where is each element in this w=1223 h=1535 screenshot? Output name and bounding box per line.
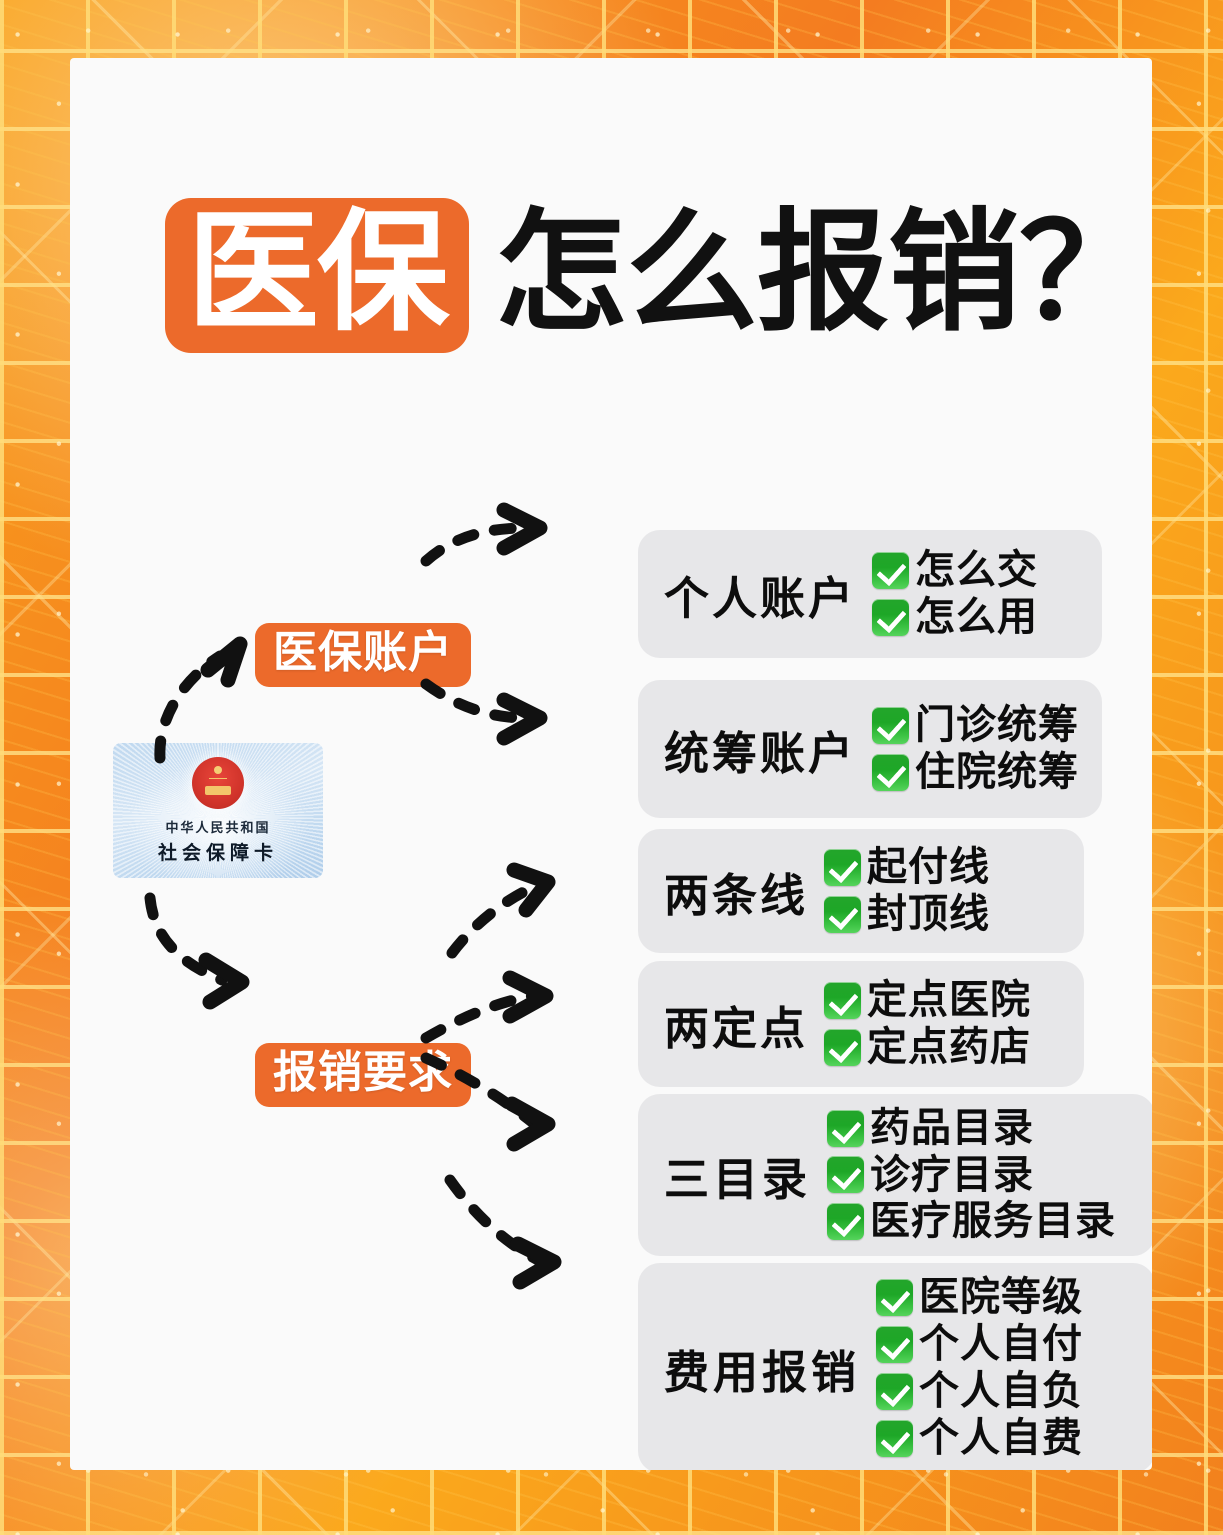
arrowhead-account-to-personal	[504, 510, 540, 548]
national-emblem-icon	[192, 757, 244, 809]
info-box-pooled-account[interactable]: 统筹账户 门诊统筹 住院统筹	[638, 680, 1102, 818]
poster-card: 医保 怎么报销？ 中华人民共和国 社会保障卡 医保账户 报销要求 个人账户 怎么…	[70, 58, 1152, 1470]
list-item-label: 个人自付	[919, 1322, 1083, 1367]
check-icon	[824, 896, 861, 933]
list-item: 定点医院	[824, 978, 1070, 1023]
list-item: 药品目录	[827, 1106, 1141, 1151]
check-icon	[876, 1420, 913, 1457]
list-item: 诊疗目录	[827, 1153, 1141, 1198]
box-item-list: 药品目录 诊疗目录 医疗服务目录	[827, 1106, 1141, 1244]
arrow-require-to-expense-line	[450, 1180, 538, 1260]
arrowhead-require-to-threecat	[512, 1104, 548, 1144]
info-box-expense-reimbursement[interactable]: 费用报销 医院等级 个人自付 个人自负 个人自费	[638, 1263, 1152, 1470]
list-item-label: 怎么交	[915, 548, 1038, 593]
category-pill-require[interactable]: 报销要求	[255, 1043, 471, 1107]
list-item: 门诊统筹	[872, 703, 1088, 748]
list-item-label: 门诊统筹	[915, 703, 1079, 748]
check-icon	[872, 707, 909, 744]
page-title: 医保 怎么报销？	[165, 198, 1150, 353]
list-item: 个人自负	[876, 1369, 1141, 1414]
arrow-require-to-twopoints-line	[426, 996, 532, 1038]
list-item: 定点药店	[824, 1025, 1070, 1070]
social-security-card: 中华人民共和国 社会保障卡	[113, 743, 323, 878]
check-icon	[827, 1203, 864, 1240]
list-item-label: 住院统筹	[915, 750, 1079, 795]
box-item-list: 定点医院 定点药店	[824, 978, 1070, 1070]
arrow-card-to-require-line	[150, 898, 222, 980]
box-title: 两条线	[664, 859, 808, 924]
check-icon	[827, 1156, 864, 1193]
list-item-label: 个人自费	[919, 1416, 1083, 1461]
check-icon	[824, 982, 861, 1019]
arrow-account-to-personal-line	[426, 528, 526, 561]
list-item-label: 诊疗目录	[870, 1153, 1034, 1198]
box-item-list: 医院等级 个人自付 个人自负 个人自费	[876, 1275, 1141, 1460]
category-pill-account[interactable]: 医保账户	[255, 623, 471, 687]
box-title: 两定点	[664, 992, 808, 1057]
check-icon	[824, 1029, 861, 1066]
check-icon	[872, 552, 909, 589]
arrow-require-to-twolines-line	[452, 886, 536, 953]
list-item: 怎么交	[872, 548, 1088, 593]
arrowhead-require-to-expense	[518, 1244, 554, 1282]
title-badge-label: 医保	[187, 212, 447, 333]
box-item-list: 起付线 封顶线	[824, 845, 1070, 937]
info-box-two-designated[interactable]: 两定点 定点医院 定点药店	[638, 961, 1084, 1087]
title-rest-label: 怎么报销？	[495, 207, 1150, 345]
list-item-label: 个人自负	[919, 1369, 1083, 1414]
list-item: 医院等级	[876, 1275, 1141, 1320]
arrowhead-require-to-twolines	[514, 870, 548, 910]
list-item-label: 定点药店	[867, 1025, 1031, 1070]
card-country-label: 中华人民共和国	[113, 817, 323, 836]
list-item: 个人自付	[876, 1322, 1141, 1367]
list-item: 个人自费	[876, 1416, 1141, 1461]
list-item-label: 起付线	[867, 845, 990, 890]
list-item-label: 医疗服务目录	[870, 1199, 1116, 1244]
arrowhead-card-to-account	[208, 644, 240, 680]
box-item-list: 门诊统筹 住院统筹	[872, 703, 1088, 795]
card-name-label: 社会保障卡	[113, 838, 323, 865]
box-title: 个人账户	[664, 562, 856, 627]
check-icon	[876, 1326, 913, 1363]
check-icon	[824, 849, 861, 886]
list-item: 封顶线	[824, 892, 1070, 937]
info-box-three-catalogs[interactable]: 三目录 药品目录 诊疗目录 医疗服务目录	[638, 1094, 1152, 1256]
check-icon	[872, 754, 909, 791]
list-item: 医疗服务目录	[827, 1199, 1141, 1244]
list-item: 住院统筹	[872, 750, 1088, 795]
check-icon	[827, 1110, 864, 1147]
check-icon	[872, 599, 909, 636]
info-box-two-lines[interactable]: 两条线 起付线 封顶线	[638, 829, 1084, 953]
box-title: 统筹账户	[664, 717, 856, 782]
check-icon	[876, 1373, 913, 1410]
check-icon	[876, 1279, 913, 1316]
list-item: 起付线	[824, 845, 1070, 890]
list-item-label: 药品目录	[870, 1106, 1034, 1151]
arrowhead-require-to-twopoints	[510, 978, 546, 1016]
list-item: 怎么用	[872, 595, 1088, 640]
arrowhead-card-to-require	[206, 960, 242, 1002]
box-item-list: 怎么交 怎么用	[872, 548, 1088, 640]
info-box-personal-account[interactable]: 个人账户 怎么交 怎么用	[638, 530, 1102, 658]
arrow-account-to-pooled-line	[426, 684, 526, 718]
list-item-label: 医院等级	[919, 1275, 1083, 1320]
list-item-label: 定点医院	[867, 978, 1031, 1023]
title-badge: 医保	[165, 198, 469, 353]
list-item-label: 怎么用	[915, 595, 1038, 640]
arrowhead-account-to-pooled	[504, 700, 540, 738]
list-item-label: 封顶线	[867, 892, 990, 937]
box-title: 费用报销	[664, 1336, 860, 1401]
box-title: 三目录	[664, 1143, 811, 1208]
